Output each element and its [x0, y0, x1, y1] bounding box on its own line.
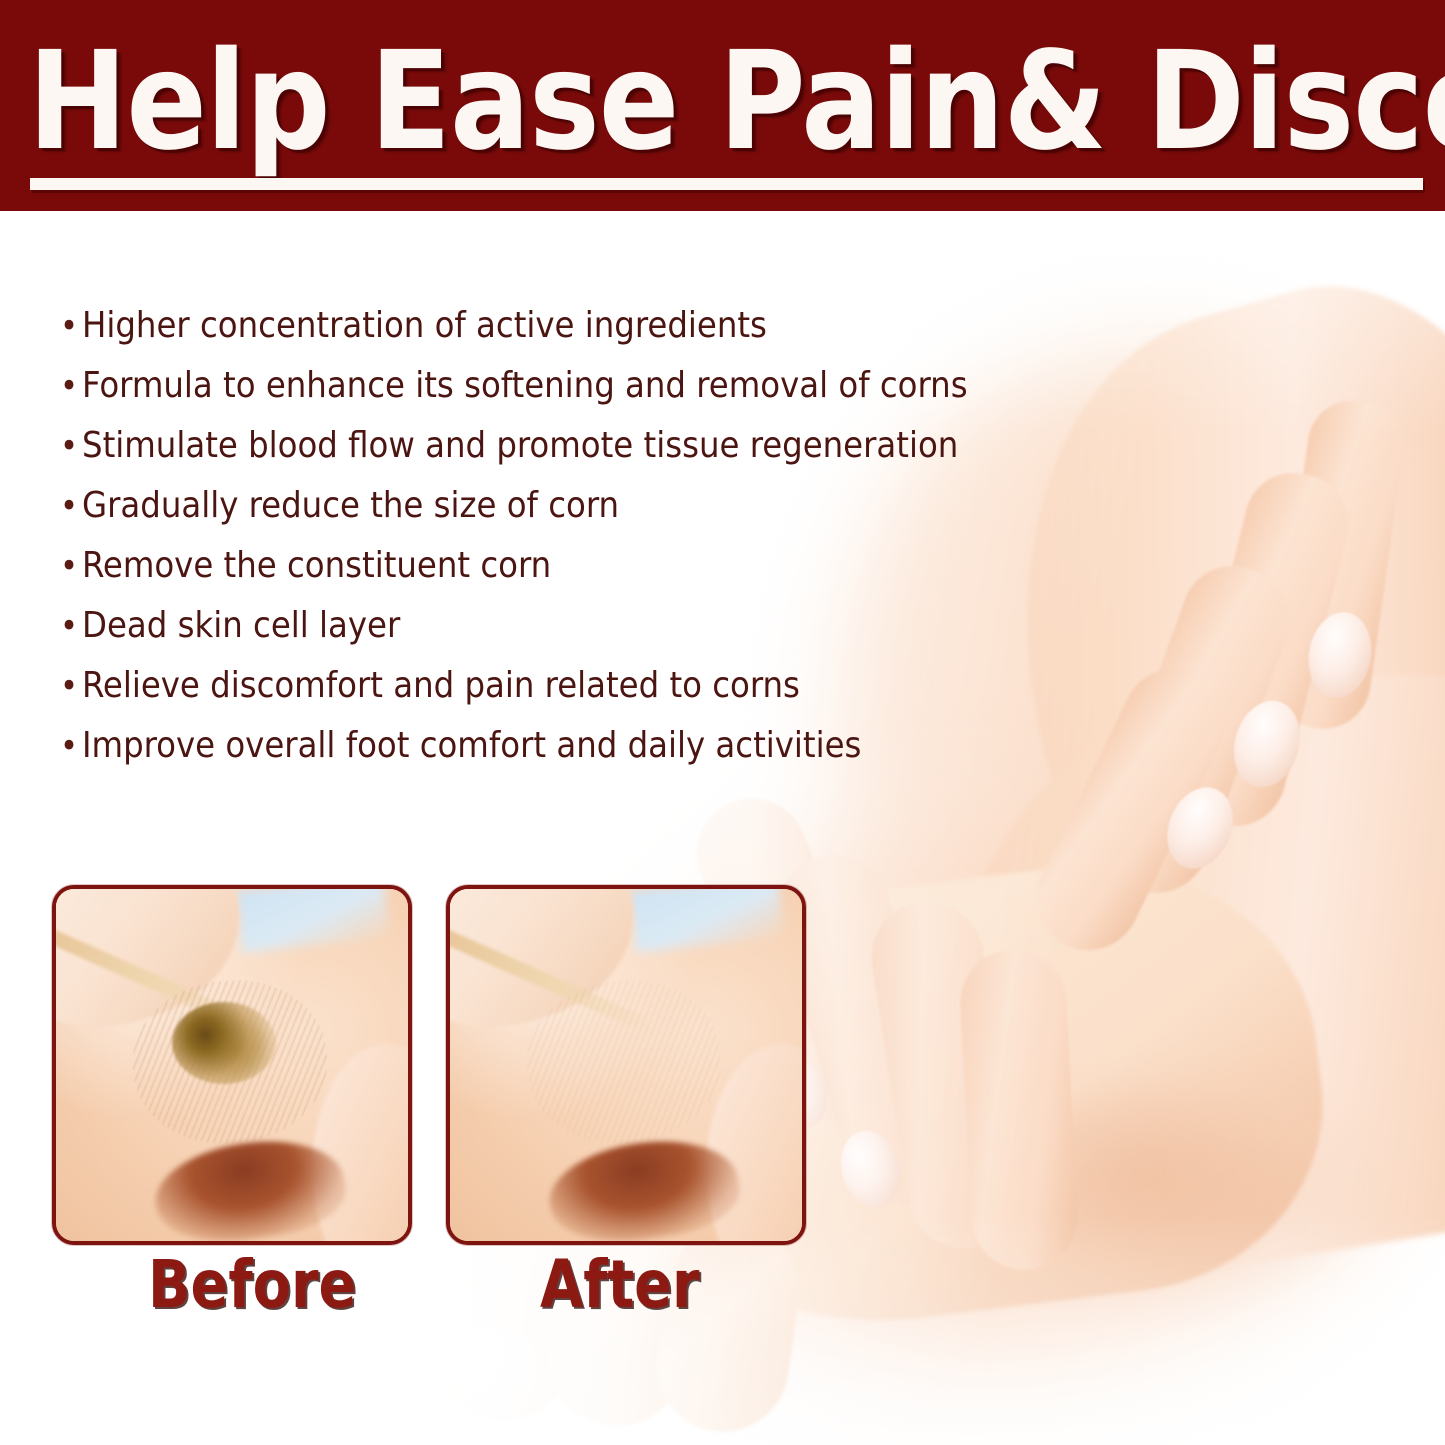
benefit-text: Gradually reduce the size of corn [82, 476, 619, 536]
blue-background-sliver [236, 885, 389, 953]
banner-title: Help Ease Pain& Discomfort [28, 36, 1387, 168]
before-photo-frame [52, 885, 412, 1245]
benefits-list: • Higher concentration of active ingredi… [60, 296, 968, 776]
before-label: Before [148, 1252, 356, 1318]
benefit-text: Formula to enhance its softening and rem… [82, 356, 968, 416]
product-infographic: Help Ease Pain& Discomfort • Higher conc… [0, 0, 1445, 1445]
benefit-text: Higher concentration of active ingredien… [82, 296, 767, 356]
bullet-icon: • [60, 716, 82, 776]
bullet-icon: • [60, 536, 82, 596]
list-item: • Stimulate blood flow and promote tissu… [60, 416, 968, 476]
benefit-text: Relieve discomfort and pain related to c… [82, 656, 800, 716]
after-photo [450, 889, 802, 1241]
list-item: • Relieve discomfort and pain related to… [60, 656, 968, 716]
bullet-icon: • [60, 476, 82, 536]
corn-callus [172, 1002, 276, 1084]
after-photo-frame [446, 885, 806, 1245]
list-item: • Improve overall foot comfort and daily… [60, 716, 968, 776]
header-banner: Help Ease Pain& Discomfort [0, 0, 1445, 211]
benefit-text: Remove the constituent corn [82, 536, 551, 596]
list-item: • Formula to enhance its softening and r… [60, 356, 968, 416]
banner-underline-rule [30, 178, 1423, 190]
after-label: After [540, 1252, 700, 1318]
bullet-icon: • [60, 356, 82, 416]
list-item: • Gradually reduce the size of corn [60, 476, 968, 536]
list-item: • Dead skin cell layer [60, 596, 968, 656]
benefit-text: Improve overall foot comfort and daily a… [82, 716, 861, 776]
bullet-icon: • [60, 296, 82, 356]
benefit-text: Dead skin cell layer [82, 596, 400, 656]
blue-background-sliver [630, 885, 783, 953]
list-item: • Higher concentration of active ingredi… [60, 296, 968, 356]
before-photo [56, 889, 408, 1241]
bullet-icon: • [60, 596, 82, 656]
benefit-text: Stimulate blood flow and promote tissue … [82, 416, 958, 476]
list-item: • Remove the constituent corn [60, 536, 968, 596]
bullet-icon: • [60, 416, 82, 476]
bullet-icon: • [60, 656, 82, 716]
